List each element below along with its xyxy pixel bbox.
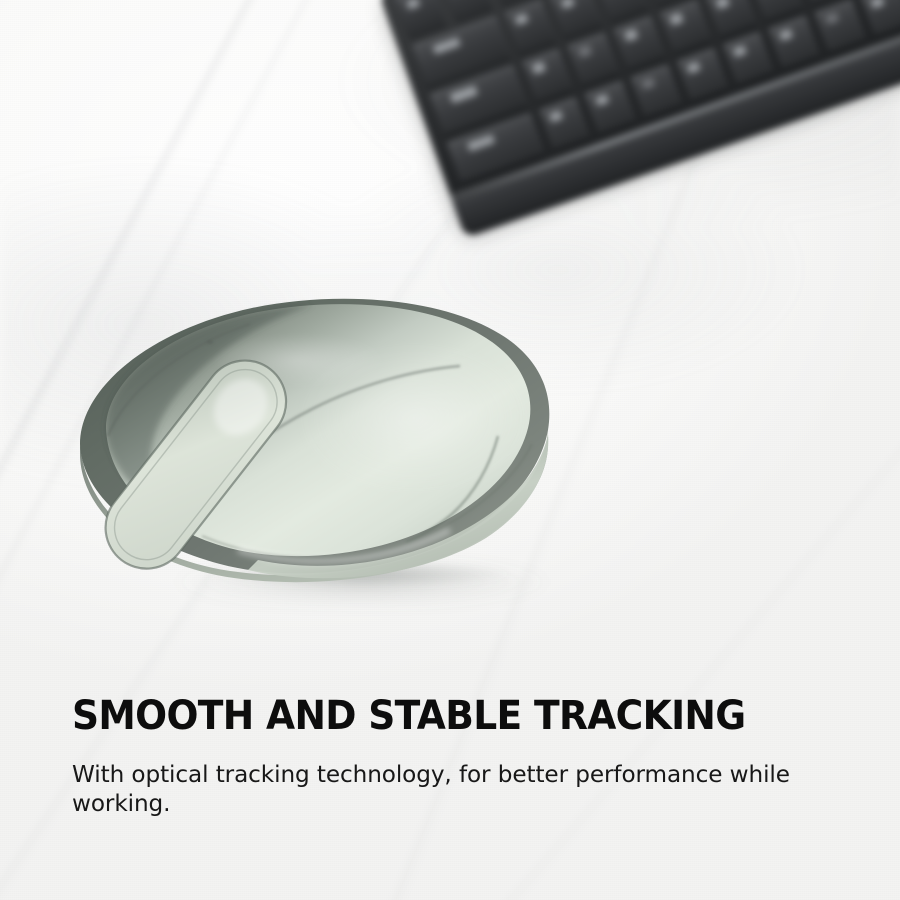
keyboard-key bbox=[441, 0, 493, 21]
mouse-indicator-dot bbox=[207, 340, 214, 344]
keyboard-key bbox=[504, 0, 556, 53]
product-marketing-poster: SMOOTH AND STABLE TRACKING With optical … bbox=[0, 0, 900, 900]
keyboard-key bbox=[751, 0, 803, 20]
keyboard-key bbox=[521, 49, 573, 102]
keyboard-key bbox=[567, 32, 619, 85]
keyboard-key bbox=[596, 0, 648, 21]
marketing-copy: SMOOTH AND STABLE TRACKING With optical … bbox=[72, 694, 862, 818]
headline: SMOOTH AND STABLE TRACKING bbox=[72, 694, 815, 738]
keyboard-key bbox=[705, 0, 757, 37]
mouse-illustration bbox=[62, 268, 592, 618]
keyboard-key bbox=[550, 0, 602, 37]
subtext: With optical tracking technology, for be… bbox=[72, 760, 823, 818]
keyboard-key bbox=[659, 0, 711, 53]
keyboard-key bbox=[613, 16, 665, 69]
mouse-product bbox=[62, 268, 592, 618]
